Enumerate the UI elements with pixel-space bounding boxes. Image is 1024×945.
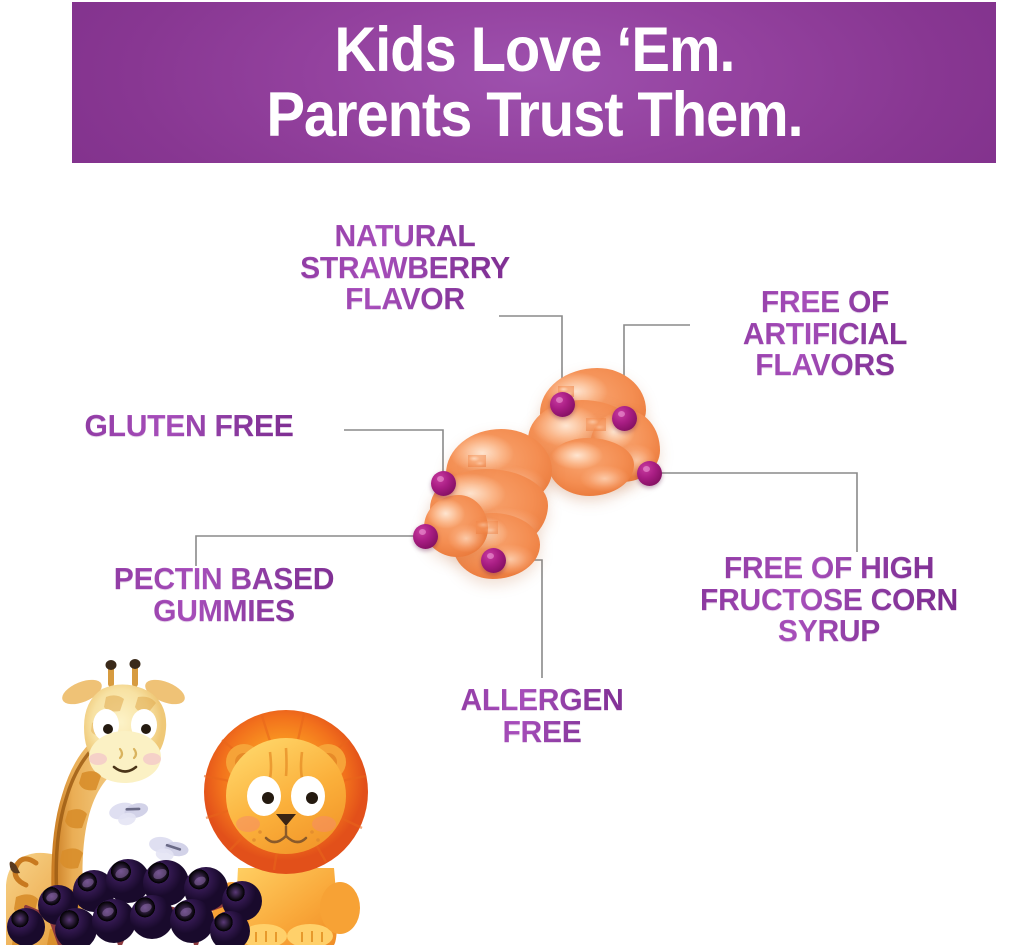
header-banner: Kids Love ‘Em. Parents Trust Them. bbox=[72, 2, 996, 163]
callout-line: GUMMIES bbox=[48, 595, 399, 627]
callout-dot-artificial bbox=[612, 406, 637, 431]
callout-line: ARTIFICIAL bbox=[686, 318, 963, 350]
callout-line: PECTIN BASED bbox=[48, 563, 399, 595]
callout-line: FREE OF bbox=[686, 286, 963, 318]
callout-line: NATURAL bbox=[248, 220, 562, 252]
callout-label-artificial-flavors: FREE OF ARTIFICIAL FLAVORS bbox=[686, 286, 963, 381]
callout-label-strawberry: NATURAL STRAWBERRY FLAVOR bbox=[248, 220, 562, 315]
callout-line: GLUTEN FREE bbox=[29, 410, 349, 442]
callout-dot-gluten bbox=[431, 471, 456, 496]
callout-label-gluten-free: GLUTEN FREE bbox=[29, 410, 349, 442]
callout-line: FREE OF HIGH bbox=[658, 552, 999, 584]
callout-label-pectin-based-gummies: PECTIN BASED GUMMIES bbox=[48, 563, 399, 626]
callout-line: FREE bbox=[403, 716, 680, 748]
banner-headline-line-2: Parents Trust Them. bbox=[266, 84, 802, 146]
callout-dot-hfcs bbox=[637, 461, 662, 486]
callout-dot-pectin bbox=[413, 524, 438, 549]
callout-line: FRUCTOSE CORN bbox=[658, 584, 999, 616]
callout-dot-allergen bbox=[481, 548, 506, 573]
callout-line: FLAVOR bbox=[248, 283, 562, 315]
banner-headline-line-1: Kids Love ‘Em. bbox=[334, 19, 734, 81]
callout-line: ALLERGEN bbox=[403, 684, 680, 716]
callout-line: FLAVORS bbox=[686, 349, 963, 381]
infographic-canvas: Kids Love ‘Em. Parents Trust Them. bbox=[0, 0, 1024, 945]
butterfly-icon bbox=[107, 797, 150, 829]
connector-hfcs bbox=[650, 473, 857, 552]
callout-line: STRAWBERRY bbox=[248, 252, 562, 284]
callout-label-high-fructose-corn-syrup: FREE OF HIGH FRUCTOSE CORN SYRUP bbox=[658, 552, 999, 647]
callout-dot-strawberry bbox=[550, 392, 575, 417]
elderberry-cluster-illustration bbox=[0, 855, 290, 945]
callout-line: SYRUP bbox=[658, 615, 999, 647]
callout-label-allergen-free: ALLERGEN FREE bbox=[403, 684, 680, 747]
